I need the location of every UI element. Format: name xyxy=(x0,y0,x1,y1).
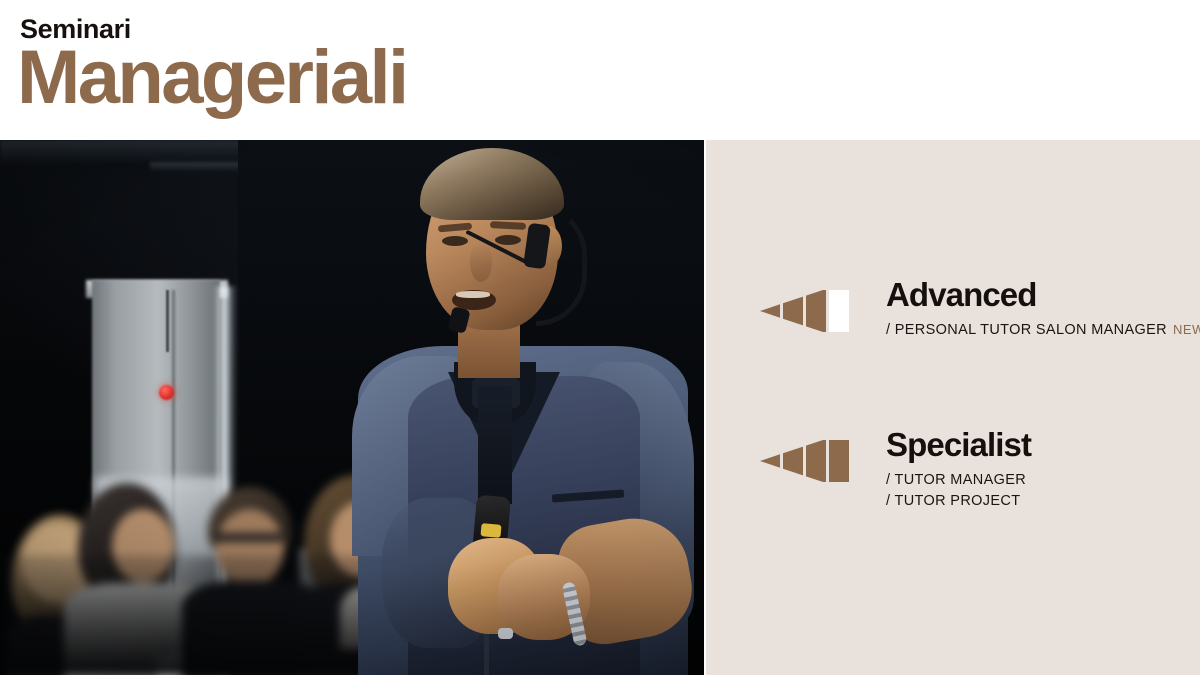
presenter-teeth xyxy=(456,291,490,298)
course-label: / PERSONAL TUTOR SALON MANAGER xyxy=(886,322,1167,338)
course-label: / TUTOR MANAGER xyxy=(886,472,1026,488)
levels-panel: Advanced / PERSONAL TUTOR SALON MANAGERN… xyxy=(706,140,1200,675)
led-cable xyxy=(166,290,169,352)
presenter-figure xyxy=(330,140,704,675)
level-text-advanced: Advanced / PERSONAL TUTOR SALON MANAGERN… xyxy=(886,278,1200,341)
level-course-list: / PERSONAL TUTOR SALON MANAGERNEW xyxy=(886,320,1200,342)
presenter-lanyard xyxy=(484,634,489,675)
course-item[interactable]: / TUTOR PROJECT xyxy=(886,491,1031,513)
presenter-nose xyxy=(470,244,492,282)
level-title: Specialist xyxy=(886,428,1031,463)
red-led-indicator xyxy=(159,385,174,400)
presenter-photo xyxy=(0,140,704,675)
presenter-eye xyxy=(495,235,521,245)
arrow-left-4-segments-icon xyxy=(760,440,850,482)
slide-root: Seminari Manageriali xyxy=(0,0,1200,675)
audience-person-glasses xyxy=(216,533,282,542)
course-label: / TUTOR PROJECT xyxy=(886,493,1020,509)
slide-header: Seminari Manageriali xyxy=(0,0,1200,140)
presenter-eye xyxy=(442,236,468,246)
page-title: Manageriali xyxy=(17,40,407,116)
presenter-clicker-indicator xyxy=(480,523,501,538)
level-title: Advanced xyxy=(886,278,1200,313)
status-badge: NEW xyxy=(1173,322,1200,337)
presenter-tie xyxy=(478,386,512,504)
course-item[interactable]: / TUTOR MANAGER xyxy=(886,470,1031,492)
level-course-list: / TUTOR MANAGER / TUTOR PROJECT xyxy=(886,470,1031,514)
presenter-ring xyxy=(498,628,513,639)
arrow-left-4-segments-icon xyxy=(760,290,850,332)
level-text-specialist: Specialist / TUTOR MANAGER / TUTOR PROJE… xyxy=(886,428,1031,513)
course-item[interactable]: / PERSONAL TUTOR SALON MANAGERNEW xyxy=(886,320,1200,342)
